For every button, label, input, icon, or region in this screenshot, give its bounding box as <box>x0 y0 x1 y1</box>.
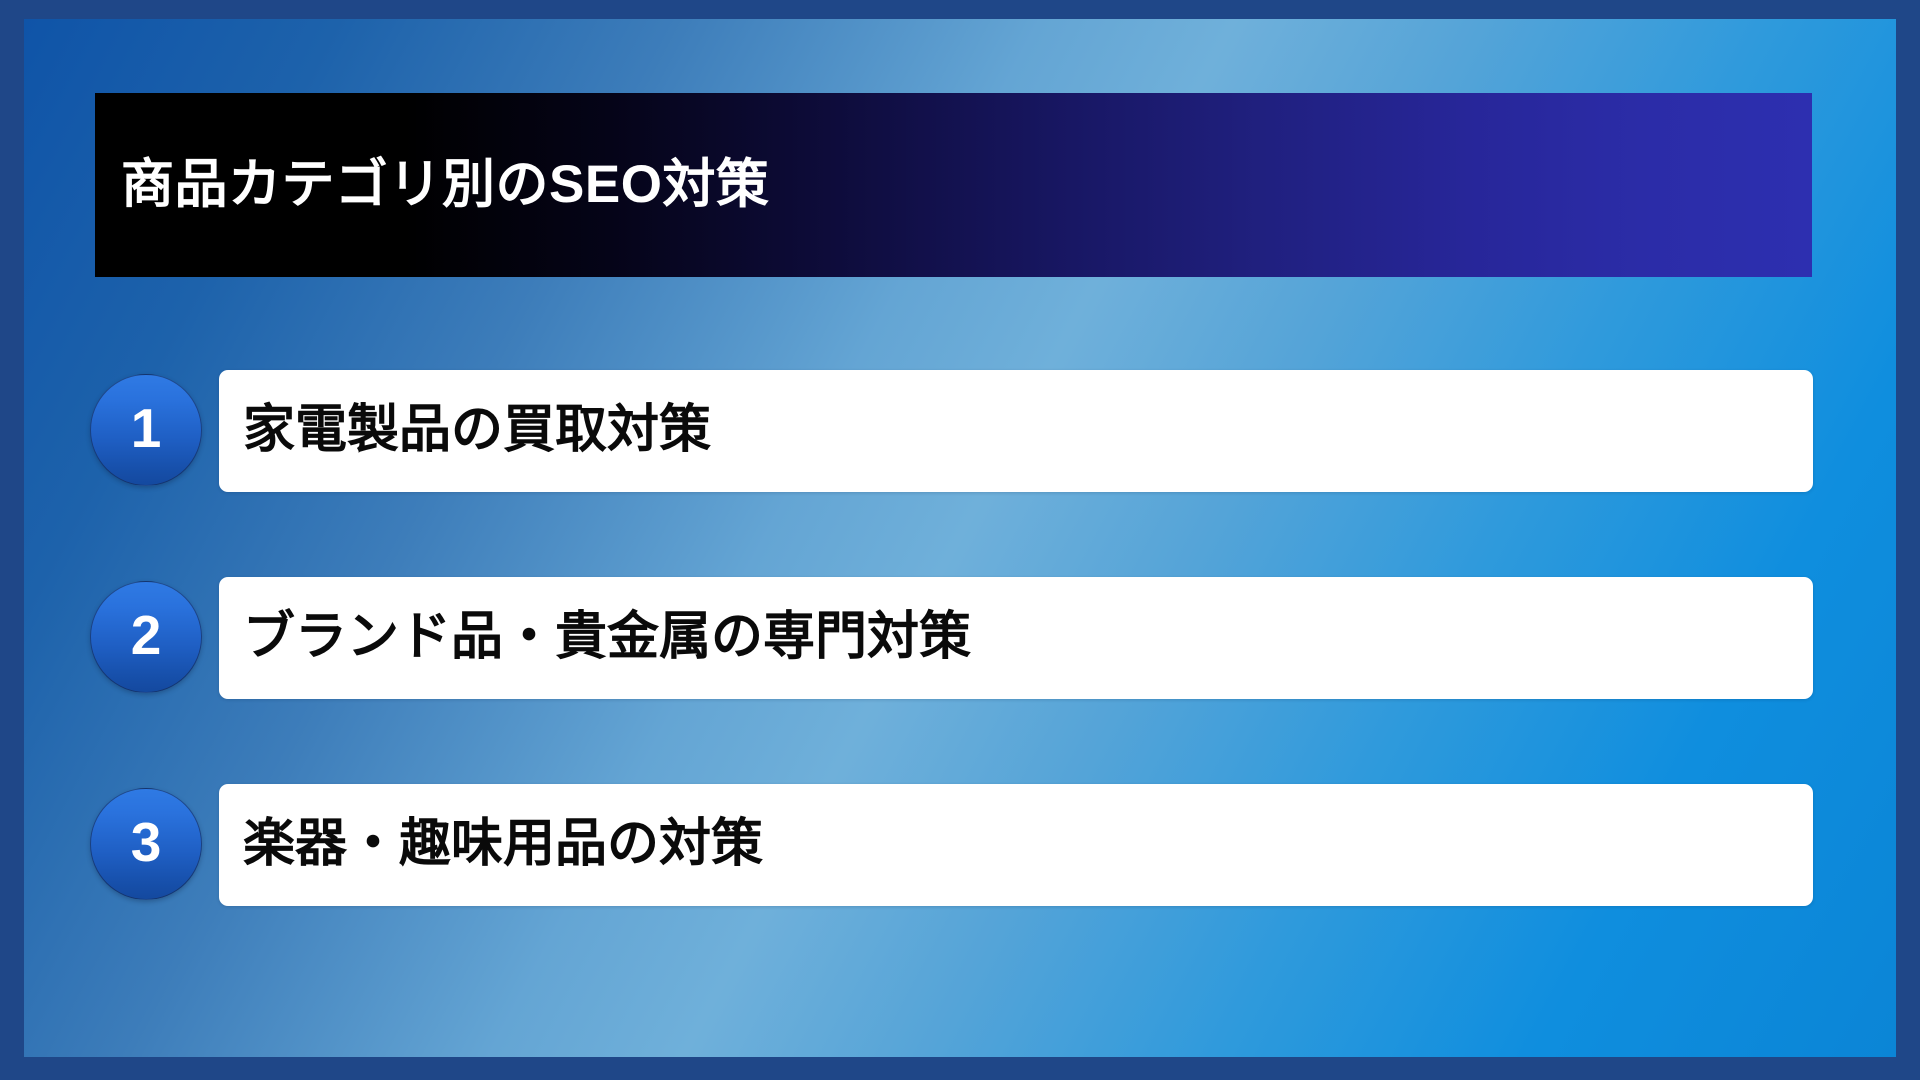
list-item[interactable]: 家電製品の買取対策 <box>219 370 1813 492</box>
list-item[interactable]: ブランド品・貴金属の専門対策 <box>219 577 1813 699</box>
list-item[interactable]: 楽器・趣味用品の対策 <box>219 784 1813 906</box>
step-number-2: 2 <box>131 608 162 663</box>
step-number-1: 1 <box>131 401 162 456</box>
slide: 商品カテゴリ別のSEO対策 1 家電製品の買取対策 2 ブランド品・貴金属の専門… <box>0 0 1920 1080</box>
slide-canvas: 商品カテゴリ別のSEO対策 1 家電製品の買取対策 2 ブランド品・貴金属の専門… <box>24 19 1896 1057</box>
list-item-label-1: 家電製品の買取対策 <box>219 401 711 461</box>
step-badge-2: 2 <box>90 581 202 693</box>
list-item-label-3: 楽器・趣味用品の対策 <box>219 815 763 875</box>
list-item-label-2: ブランド品・貴金属の専門対策 <box>219 608 971 668</box>
step-badge-1: 1 <box>90 374 202 486</box>
page-title: 商品カテゴリ別のSEO対策 <box>95 156 769 214</box>
title-banner: 商品カテゴリ別のSEO対策 <box>95 93 1812 277</box>
step-badge-3: 3 <box>90 788 202 900</box>
step-number-3: 3 <box>131 815 162 870</box>
